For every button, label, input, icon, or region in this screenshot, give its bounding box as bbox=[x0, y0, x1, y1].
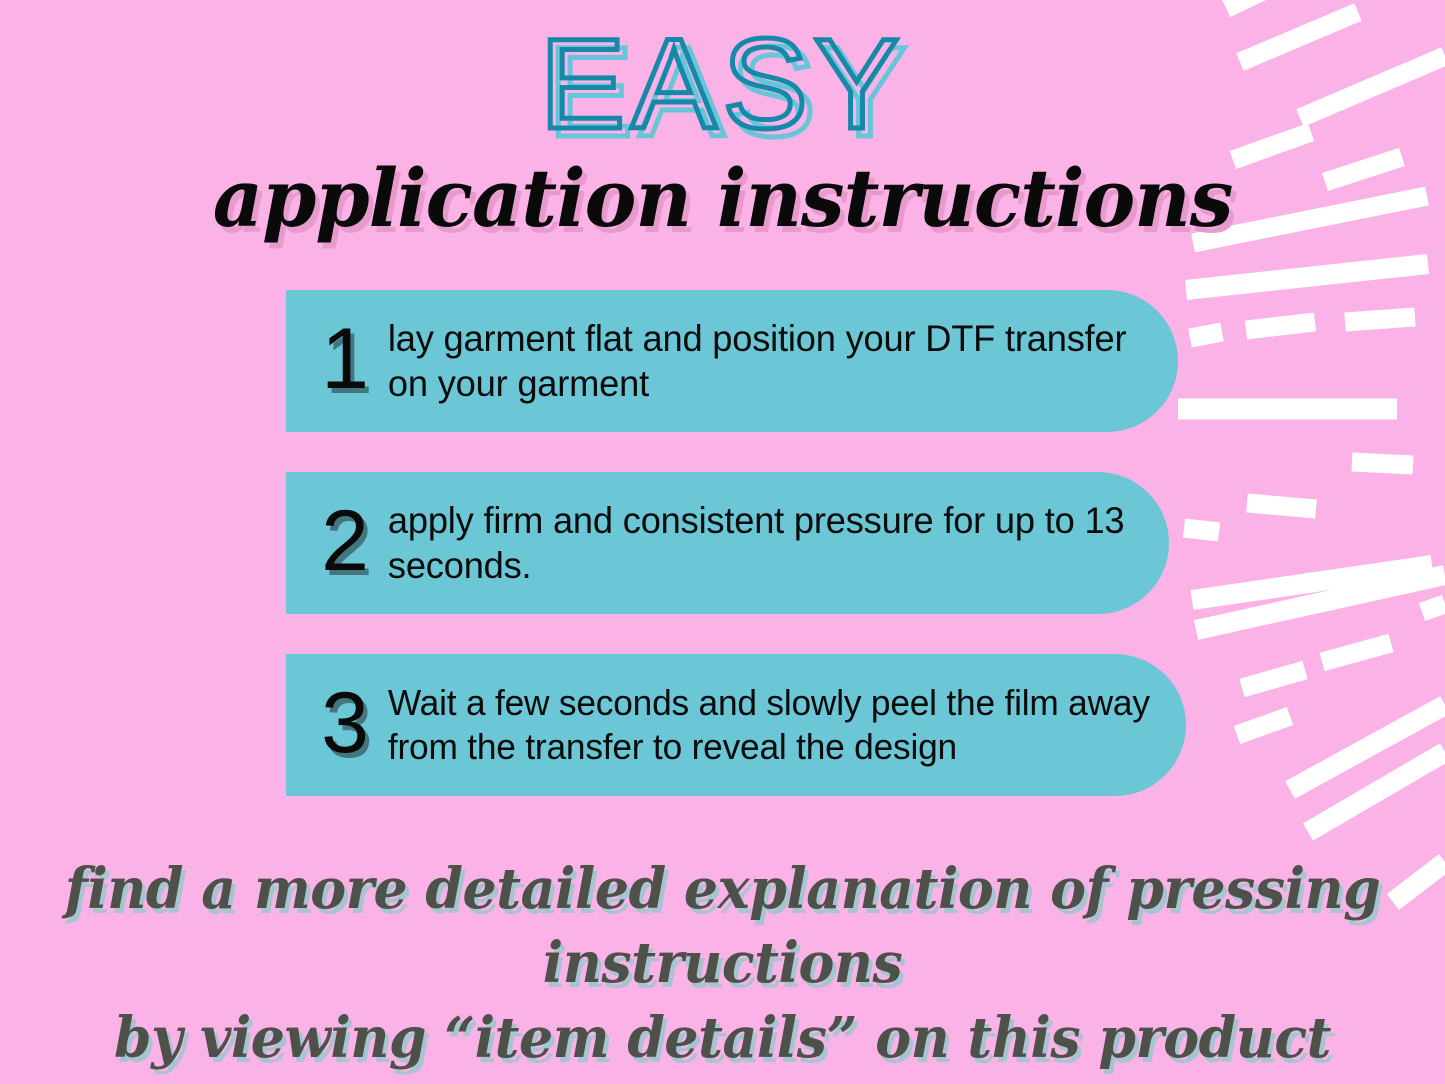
step-number-3: 3 bbox=[308, 680, 382, 766]
step-item-3: 3 Wait a few seconds and slowly peel the… bbox=[286, 654, 1186, 796]
sunburst-ray bbox=[1186, 264, 1428, 290]
sunburst-ray bbox=[1242, 670, 1305, 688]
sunburst-ray bbox=[1237, 716, 1290, 735]
footer-line-1: find a more detailed explanation of pres… bbox=[29, 852, 1416, 1001]
sunburst-ray bbox=[1308, 752, 1445, 832]
steps-list: 1 lay garment flat and position your DTF… bbox=[286, 290, 1186, 836]
sunburst-ray bbox=[1246, 322, 1315, 330]
sunburst-ray bbox=[1184, 528, 1219, 532]
sunburst-ray bbox=[1345, 317, 1415, 322]
step-text-3: Wait a few seconds and slowly peel the f… bbox=[382, 681, 1170, 769]
footer-note: find a more detailed explanation of pres… bbox=[0, 852, 1445, 1084]
step-number-1: 1 bbox=[308, 316, 382, 402]
sunburst-ray bbox=[1422, 604, 1445, 612]
sunburst-ray bbox=[1196, 575, 1445, 630]
step-item-1: 1 lay garment flat and position your DTF… bbox=[286, 290, 1178, 432]
sunburst-ray bbox=[1352, 462, 1413, 465]
subtitle-wrapper: application instructions bbox=[0, 158, 1445, 238]
sunburst-ray bbox=[1226, 0, 1445, 8]
easy-title: EASY bbox=[0, 18, 1445, 152]
sunburst-ray bbox=[1247, 503, 1316, 509]
step-text-1: lay garment flat and position your DTF t… bbox=[382, 316, 1162, 406]
poster-canvas: EASY EASY application instructions 1 lay… bbox=[0, 0, 1445, 1084]
step-text-2: apply firm and consistent pressure for u… bbox=[382, 498, 1153, 588]
application-instructions-heading: application instructions bbox=[213, 158, 1233, 238]
step-item-2: 2 apply firm and consistent pressure for… bbox=[286, 472, 1169, 614]
sunburst-ray bbox=[1190, 332, 1222, 338]
footer-line-2: by viewing “item details” on this produc… bbox=[29, 1001, 1416, 1084]
step-number-2: 2 bbox=[308, 498, 382, 584]
sunburst-ray bbox=[1322, 643, 1391, 662]
sunburst-ray bbox=[1290, 705, 1445, 790]
sunburst-ray bbox=[1192, 565, 1432, 600]
